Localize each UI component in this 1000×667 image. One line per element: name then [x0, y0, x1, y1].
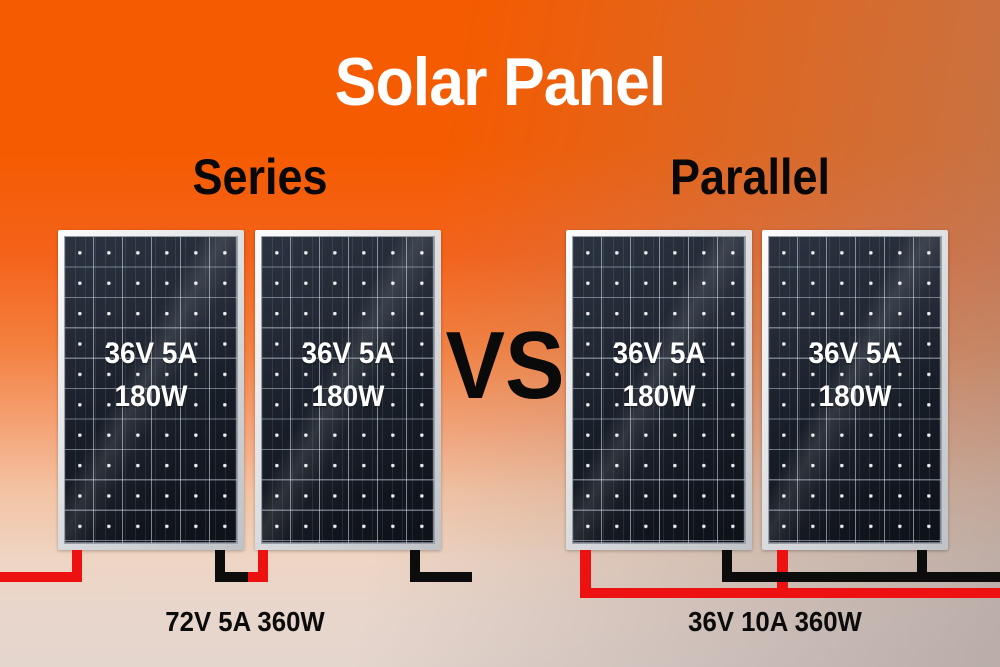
- output-label-series: 72V 5A 360W: [107, 608, 383, 636]
- solar-panel-series-2: 36V 5A 180W: [255, 230, 441, 550]
- panel-glass: 36V 5A 180W: [572, 236, 746, 544]
- series-wire-jumper-bottom-red: [248, 572, 268, 582]
- series-wire-positive-out: [0, 572, 82, 582]
- panel-spec-parallel-1: 36V 5A 180W: [579, 333, 739, 418]
- solar-panel-series-1: 36V 5A 180W: [58, 230, 244, 550]
- panel-spec-line-1: 36V 5A: [71, 333, 231, 376]
- panel-spec-line-1: 36V 5A: [268, 333, 428, 376]
- panel-glass: 36V 5A 180W: [768, 236, 942, 544]
- panel-spec-line-1: 36V 5A: [775, 333, 935, 376]
- vs-label: VS: [445, 318, 566, 414]
- output-label-parallel: 36V 10A 360W: [623, 608, 927, 636]
- solar-panel-parallel-2: 36V 5A 180W: [762, 230, 948, 550]
- series-wire-negative-out: [410, 572, 472, 582]
- panel-spec-line-1: 36V 5A: [579, 333, 739, 376]
- parallel-wire-negative-bus: [722, 572, 1000, 582]
- page-title: Solar Panel: [40, 48, 960, 116]
- panel-spec-line-2: 180W: [268, 376, 428, 419]
- panel-spec-series-1: 36V 5A 180W: [71, 333, 231, 418]
- panel-spec-series-2: 36V 5A 180W: [268, 333, 428, 418]
- panel-spec-line-2: 180W: [71, 376, 231, 419]
- panel-spec-parallel-2: 36V 5A 180W: [775, 333, 935, 418]
- panel-spec-line-2: 180W: [579, 376, 739, 419]
- infographic-canvas: Solar Panel Series Parallel VS 36V 5A 18…: [0, 0, 1000, 667]
- parallel-wire-positive-bus: [580, 588, 1000, 598]
- panel-glass: 36V 5A 180W: [64, 236, 238, 544]
- panel-glass: 36V 5A 180W: [261, 236, 435, 544]
- solar-panel-parallel-1: 36V 5A 180W: [566, 230, 752, 550]
- section-heading-parallel: Parallel: [579, 152, 921, 202]
- section-heading-series: Series: [98, 152, 422, 202]
- panel-spec-line-2: 180W: [775, 376, 935, 419]
